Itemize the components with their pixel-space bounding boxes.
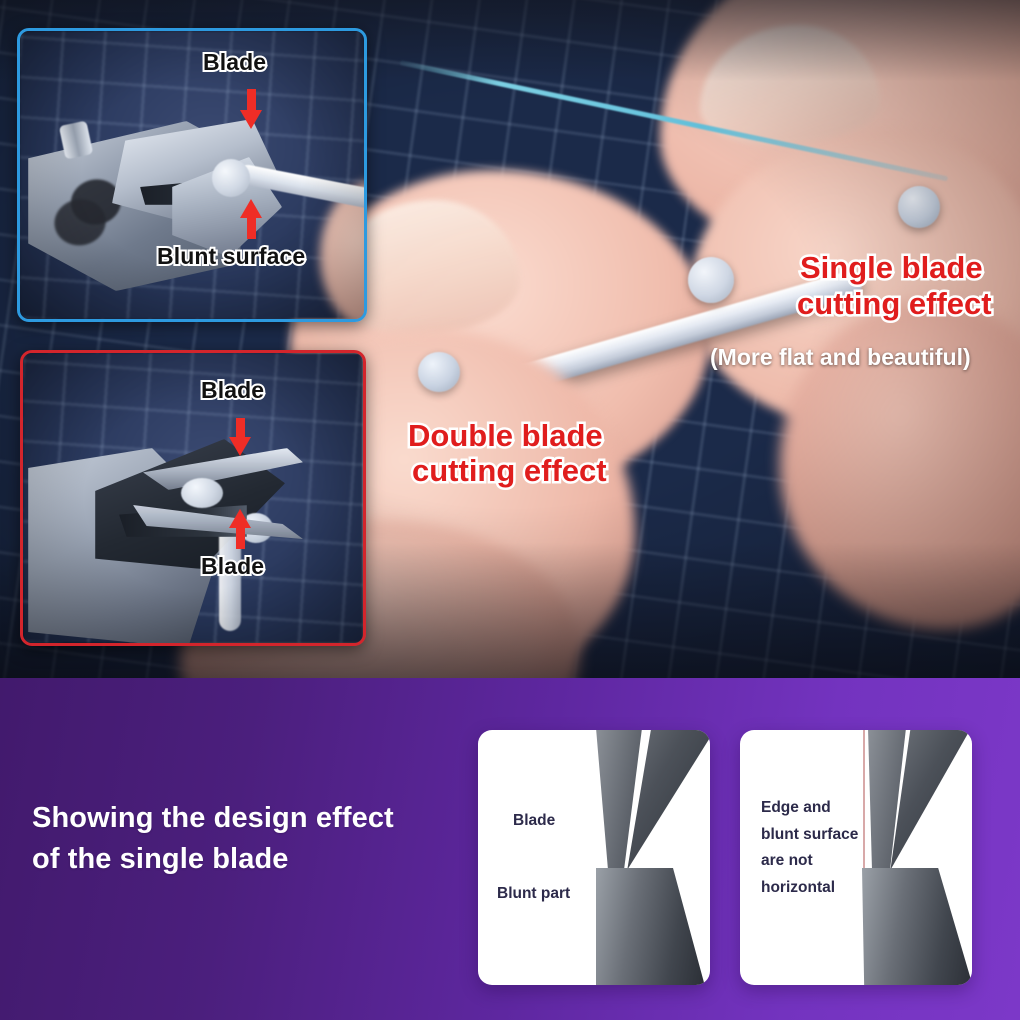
band-heading-line2: of the single blade <box>32 839 394 880</box>
main-product-photo: Single blade cutting effect (More flat a… <box>0 0 1020 678</box>
card1-blunt-wedge <box>596 868 706 985</box>
inset2-label-blade-top: Blade <box>201 377 264 404</box>
single-blade-headline-line2: cutting effect <box>797 288 992 320</box>
inset1-arrow-up-head <box>240 199 262 218</box>
card2-label-text: Edge and blunt surface are not horizonta… <box>761 795 858 902</box>
inset1-arrow-down-stem <box>247 89 256 111</box>
double-blade-headline-line2: cutting effect <box>412 455 607 487</box>
double-blade-headline-line1: Double blade <box>408 420 603 452</box>
card-edge-not-horizontal: Edge and blunt surface are not horizonta… <box>740 730 972 985</box>
single-blade-headline-line1: Single blade <box>800 252 983 284</box>
card1-label-blade: Blade <box>513 808 555 835</box>
band-heading: Showing the design effect of the single … <box>32 798 394 880</box>
inset2-label-blade-bottom: Blade <box>201 553 264 580</box>
card-single-blade-geometry: Blade Blunt part <box>478 730 710 985</box>
single-blade-subnote: (More flat and beautiful) <box>710 344 971 371</box>
inset1-arrow-down-head <box>240 110 262 129</box>
inset-single-blade-nipper: Blade Blunt surface <box>17 28 367 322</box>
inset1-vignette <box>20 31 364 319</box>
card2-reference-line <box>863 730 865 868</box>
inset1-label-blunt-surface: Blunt surface <box>157 243 305 270</box>
inset-double-blade-nipper: Blade Blade <box>20 350 366 646</box>
inset2-vignette <box>23 353 363 643</box>
inset2-arrow-up-head <box>229 509 251 528</box>
band-heading-line1: Showing the design effect <box>32 798 394 839</box>
design-effect-band: Showing the design effect of the single … <box>0 678 1020 1020</box>
inset2-arrow-up-stem <box>236 527 245 549</box>
inset1-arrow-up-stem <box>247 217 256 239</box>
inset1-label-blade: Blade <box>203 49 266 76</box>
inset2-arrow-down-head <box>229 437 251 456</box>
card2-blunt-wedge <box>862 868 972 985</box>
card1-label-blunt-part: Blunt part <box>497 881 570 908</box>
inset2-arrow-down-stem <box>236 418 245 438</box>
product-infographic: Single blade cutting effect (More flat a… <box>0 0 1020 1020</box>
